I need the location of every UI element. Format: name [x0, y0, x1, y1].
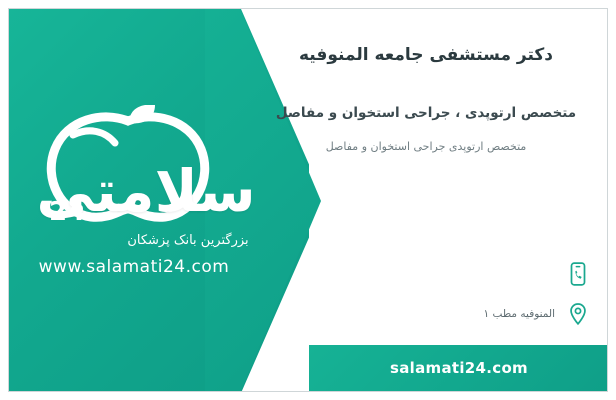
logo-tagline: بزرگترین بانک پزشکان	[113, 233, 263, 248]
phone-icon	[565, 261, 591, 287]
card-frame: سلامتی 24 بزرگترین بانک پزشکان www.salam…	[8, 8, 608, 392]
card-content: دکتر مستشفى جامعه المنوفيه متخصص ارتوپدی…	[261, 9, 591, 392]
page-title: دکتر مستشفى جامعه المنوفيه	[261, 45, 591, 65]
logo: سلامتی 24 بزرگترین بانک پزشکان www.salam…	[23, 105, 263, 295]
contact-row-address: المنوفيه مطب ١	[484, 301, 591, 327]
address-value: المنوفيه مطب ١	[484, 308, 555, 320]
contact-row-phone	[555, 261, 591, 287]
specialty-subline: متخصص ارتوپدی جراحی استخوان و مفاصل	[261, 140, 591, 153]
specialty-line: متخصص ارتوپدی ، جراحی استخوان و مفاصل	[261, 105, 591, 121]
business-card: سلامتی 24 بزرگترین بانک پزشکان www.salam…	[0, 0, 616, 400]
footer-site: salamati24.com	[309, 345, 608, 391]
location-pin-icon	[565, 301, 591, 327]
logo-number: 24	[49, 197, 85, 227]
logo-url: www.salamati24.com	[23, 257, 245, 277]
